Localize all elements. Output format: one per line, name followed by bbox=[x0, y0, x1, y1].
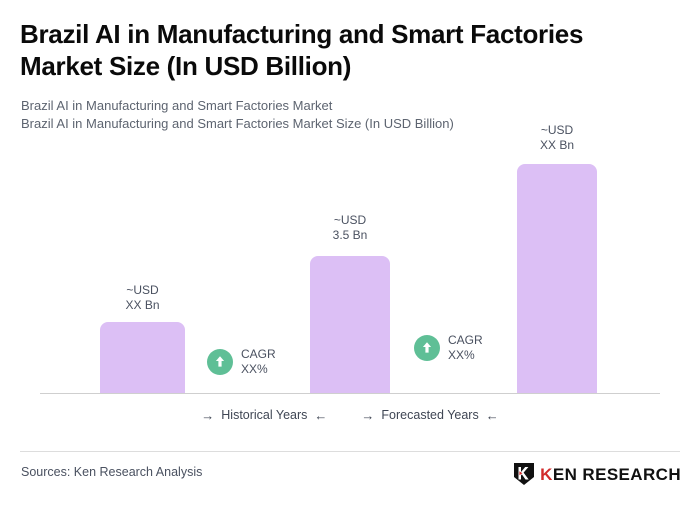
cagr-arrow-up-icon bbox=[414, 335, 440, 361]
cagr-badge-2-line2: XX% bbox=[448, 348, 483, 363]
bar-value-label-3-line1: ~USD bbox=[517, 123, 597, 138]
bar-value-label-2-line2: 3.5 Bn bbox=[310, 228, 390, 243]
ken-research-shield-icon bbox=[513, 462, 535, 486]
arrow-right-icon: → bbox=[201, 409, 214, 422]
period-forecasted-years: → Forecasted Years ← bbox=[361, 408, 498, 422]
bar-value-label-2: ~USD 3.5 Bn bbox=[310, 213, 390, 242]
bar-value-label-1-line2: XX Bn bbox=[100, 298, 185, 313]
logo-word-rest: EN RESEARCH bbox=[553, 465, 681, 484]
bar-value-label-1: ~USD XX Bn bbox=[100, 283, 185, 312]
sources-text: Sources: Ken Research Analysis bbox=[21, 465, 202, 479]
period-forecasted-years-label: Forecasted Years bbox=[381, 408, 478, 422]
footer-divider bbox=[20, 451, 680, 452]
cagr-badge-1-line2: XX% bbox=[241, 362, 276, 377]
bar-value-label-3-line2: XX Bn bbox=[517, 138, 597, 153]
bar-2[interactable] bbox=[310, 256, 390, 394]
infographic-root: Brazil AI in Manufacturing and Smart Fac… bbox=[0, 0, 700, 520]
bar-value-label-3: ~USD XX Bn bbox=[517, 123, 597, 152]
period-legend: → Historical Years ← → Forecasted Years … bbox=[0, 408, 700, 422]
cagr-badge-2-text: CAGR XX% bbox=[448, 333, 483, 362]
chart-plot-area: ~USD XX Bn CAGR XX% ~USD 3.5 Bn bbox=[0, 0, 700, 400]
cagr-badge-2: CAGR XX% bbox=[414, 333, 483, 362]
ken-research-logo: KEN RESEARCH bbox=[513, 462, 681, 486]
bar-1[interactable] bbox=[100, 322, 185, 394]
cagr-badge-1-text: CAGR XX% bbox=[241, 347, 276, 376]
logo-word-k: K bbox=[540, 465, 553, 484]
period-historical-years: → Historical Years ← bbox=[201, 408, 327, 422]
bar-3[interactable] bbox=[517, 164, 597, 394]
arrow-right-icon: → bbox=[361, 409, 374, 422]
period-historical-years-label: Historical Years bbox=[221, 408, 307, 422]
x-axis-baseline bbox=[40, 393, 660, 394]
bar-value-label-2-line1: ~USD bbox=[310, 213, 390, 228]
cagr-badge-2-line1: CAGR bbox=[448, 333, 483, 348]
bar-value-label-1-line1: ~USD bbox=[100, 283, 185, 298]
cagr-badge-1: CAGR XX% bbox=[207, 347, 276, 376]
arrow-left-icon: ← bbox=[314, 409, 327, 422]
cagr-arrow-up-icon bbox=[207, 349, 233, 375]
ken-research-wordmark: KEN RESEARCH bbox=[540, 466, 681, 483]
cagr-badge-1-line1: CAGR bbox=[241, 347, 276, 362]
arrow-left-icon: ← bbox=[486, 409, 499, 422]
